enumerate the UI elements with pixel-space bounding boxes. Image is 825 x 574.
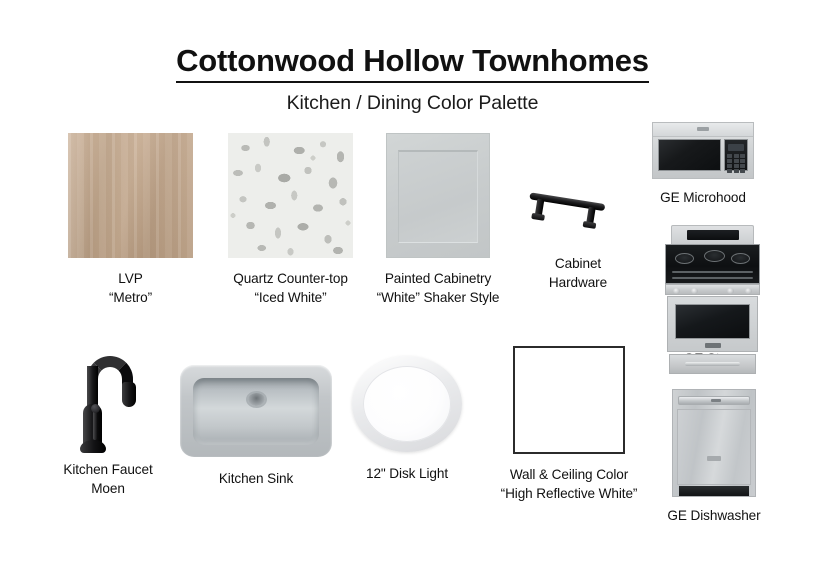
keypad-key [740, 159, 745, 163]
microhood-top-vent-strip [653, 123, 753, 137]
bar-pull-group [518, 172, 638, 251]
range-control-panel [687, 230, 739, 240]
burner-front-left [675, 253, 694, 264]
page-title: Cottonwood Hollow Townhomes [176, 44, 649, 83]
palette-item-disk-light-caption: 12" Disk Light [352, 464, 462, 483]
ge-badge [705, 343, 721, 348]
palette-item-disk-light: 12" Disk Light [352, 356, 462, 483]
sink-drain [248, 393, 265, 406]
palette-item-stove: GE Stove [665, 225, 760, 368]
keypad-key [734, 159, 739, 163]
range-storage-drawer [669, 354, 756, 374]
palette-item-lvp-caption: LVP “Metro” [68, 269, 193, 308]
faucet-handle-joint [91, 404, 100, 413]
dishwasher [672, 389, 756, 497]
document-header: Cottonwood Hollow Townhomes Kitchen / Di… [0, 44, 825, 115]
burner-grate-front [672, 271, 753, 273]
keypad-key [727, 154, 732, 158]
range-backguard [671, 225, 754, 244]
dishwasher-door [677, 409, 751, 485]
cabinet-inner-panel [398, 150, 478, 243]
drawer-handle [685, 362, 739, 366]
burner-center [704, 250, 725, 262]
palette-item-hardware-caption: Cabinet Hardware [522, 254, 634, 293]
palette-item-microhood: GE Microhood [652, 122, 754, 207]
palette-item-dishwasher: GE Dishwasher [672, 389, 756, 525]
microhood-door [658, 139, 721, 171]
keypad-key [740, 169, 745, 173]
palette-item-microhood-caption: GE Microhood [652, 188, 754, 207]
range-oven-door [667, 296, 758, 352]
keypad-key [734, 169, 739, 173]
sink-basin [193, 378, 319, 445]
microhood-control-panel [724, 139, 748, 171]
palette-item-wall-color: Wall & Ceiling Color “High Reflective Wh… [513, 346, 625, 504]
palette-item-lvp: LVP “Metro” [68, 133, 193, 308]
palette-item-sink: Kitchen Sink [180, 365, 332, 488]
range-knob [727, 288, 734, 294]
range-knob [745, 288, 752, 294]
keypad-key [734, 164, 739, 168]
keypad-key [727, 164, 732, 168]
burner-front-right [731, 253, 750, 264]
dishwasher-control-indicator [711, 399, 721, 402]
pull-foot-right [583, 221, 597, 229]
microhood-keypad [727, 154, 745, 173]
palette-item-quartz-caption: Quartz Counter-top “Iced White” [228, 269, 353, 308]
palette-item-faucet-caption: Kitchen Faucet Moen [33, 460, 183, 499]
dishwasher-handle-bar [678, 396, 750, 405]
disk-light-lens [363, 366, 451, 442]
flush-disk-light [352, 356, 462, 452]
bar-pull-handle [522, 180, 634, 242]
keypad-key [734, 154, 739, 158]
palette-item-faucet: Kitchen Faucet Moen [52, 352, 164, 499]
undermount-sink [180, 365, 332, 457]
microwave-hood [652, 122, 754, 179]
oven-window [675, 304, 750, 339]
shaker-cabinet-door [386, 133, 490, 258]
palette-item-dishwasher-caption: GE Dishwasher [644, 506, 784, 525]
pulldown-faucet [52, 352, 164, 456]
microhood-display [728, 144, 744, 151]
palette-item-quartz: Quartz Counter-top “Iced White” [228, 133, 353, 308]
palette-item-wall-color-caption: Wall & Ceiling Color “High Reflective Wh… [479, 465, 659, 504]
ge-badge [707, 456, 721, 461]
keypad-key [727, 169, 732, 173]
faucet-base [80, 440, 106, 453]
palette-item-sink-caption: Kitchen Sink [180, 469, 332, 488]
page-subtitle: Kitchen / Dining Color Palette [0, 92, 825, 115]
paint-color-swatch [513, 346, 625, 454]
keypad-key [727, 159, 732, 163]
keypad-key [740, 164, 745, 168]
keypad-key [740, 154, 745, 158]
pull-foot-left [531, 213, 545, 221]
wood-plank-swatch [68, 133, 193, 258]
palette-item-cabinetry-caption: Painted Cabinetry “White” Shaker Style [364, 269, 512, 308]
faucet-spout [122, 382, 136, 407]
range-cooktop [665, 244, 760, 284]
burner-grate-rear [672, 277, 753, 279]
gas-range [665, 225, 760, 340]
terrazzo-swatch [228, 133, 353, 258]
range-knob [691, 288, 698, 294]
palette-item-cabinetry: Painted Cabinetry “White” Shaker Style [386, 133, 490, 308]
palette-item-hardware: Cabinet Hardware [522, 180, 634, 293]
range-knob-rail [665, 284, 760, 295]
range-knob [673, 288, 680, 294]
microhood-vent-icon [697, 127, 709, 131]
dishwasher-toe-kick [679, 486, 749, 496]
